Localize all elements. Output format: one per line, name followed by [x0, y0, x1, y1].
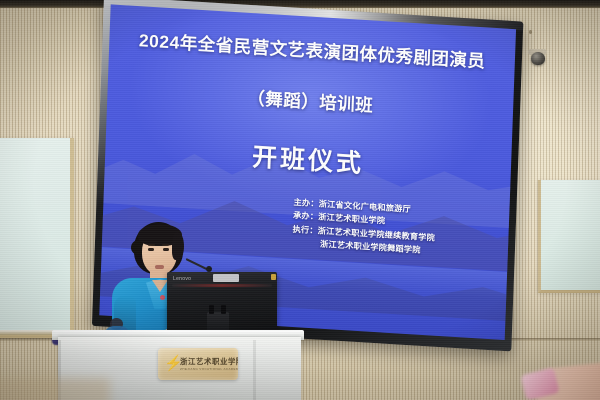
speaker-brow-right [162, 244, 169, 246]
monitor-port-right [221, 305, 226, 314]
monitor-vent [172, 284, 272, 287]
speaker-mouth [155, 265, 164, 269]
speaker-brow-left [148, 244, 155, 246]
slide-heading: 开班仪式 [105, 128, 512, 189]
speaker-eye-left [148, 248, 154, 251]
academy-logo-icon: ⚡ [164, 355, 178, 372]
plaque-name-en: ZHEJIANG VOCATIONAL ACADEMY OF ART [180, 367, 238, 371]
whiteboard-right [538, 180, 600, 293]
slide-title-line2: （舞蹈）培训班 [107, 76, 513, 126]
slide-title-line1: 2024年全省民营文艺表演团体优秀剧团演员 [109, 30, 515, 72]
speaker-eye-right [163, 248, 169, 251]
ceiling-band [0, 0, 600, 8]
whiteboard-left [0, 138, 74, 338]
photo-scene: 2024年全省民营文艺表演团体优秀剧团演员 （舞蹈）培训班 开班仪式 主办：浙江… [0, 0, 600, 400]
monitor-sticker [213, 274, 239, 282]
foreground-blur-left [0, 378, 110, 400]
slide-credits: 主办：浙江省文化广电和旅游厅 承办：浙江艺术职业学院 执行：浙江艺术职业学院继续… [292, 196, 436, 258]
plaque-name-cn: 浙江艺术职业学院 [180, 356, 238, 367]
security-camera-icon [531, 52, 545, 65]
monitor-side-tag [271, 274, 276, 280]
wall-mark [529, 30, 532, 34]
monitor-brand-label: Lenovo [173, 276, 191, 282]
speaker-hair-side [172, 232, 184, 260]
podium-plaque: ⚡ 浙江艺术职业学院 ZHEJIANG VOCATIONAL ACADEMY O… [158, 348, 238, 380]
podium-seam-right [253, 340, 256, 400]
speaker-brooch [160, 295, 165, 300]
monitor-port-left [209, 305, 214, 314]
